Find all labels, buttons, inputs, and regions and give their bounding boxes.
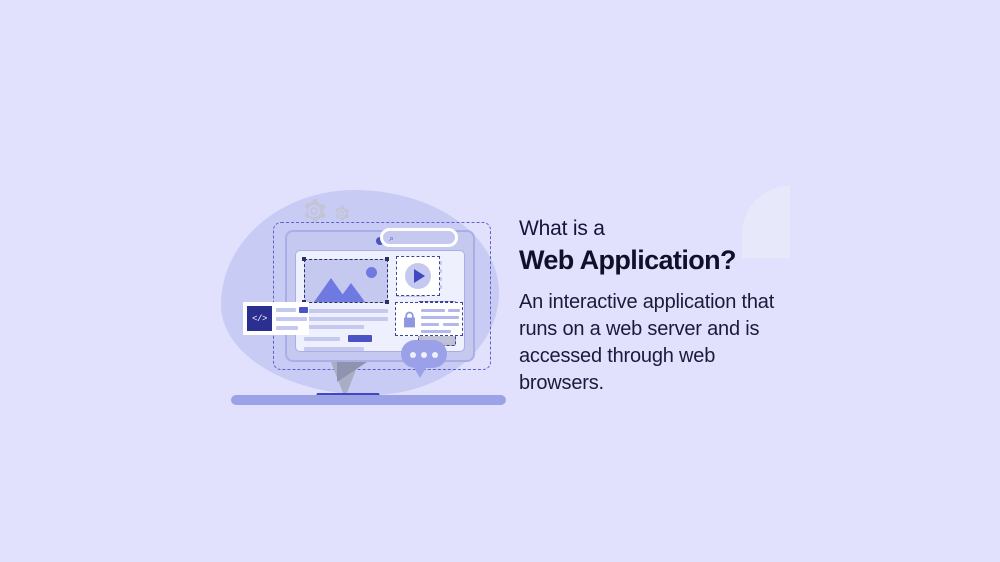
resize-handle[interactable] xyxy=(302,257,306,261)
text-column: What is a Web Application? An interactiv… xyxy=(519,216,819,397)
text-line xyxy=(304,347,364,351)
text-line xyxy=(304,317,388,321)
text-line xyxy=(421,309,445,312)
chat-bubble-tail xyxy=(413,366,427,378)
floor-bar xyxy=(231,395,506,405)
text-line xyxy=(421,330,451,333)
page-title: Web Application? xyxy=(519,244,819,276)
chat-bubble xyxy=(401,340,447,368)
video-play-card[interactable] xyxy=(396,256,440,296)
text-line xyxy=(421,323,439,326)
gear-icon xyxy=(301,198,327,224)
description-text: An interactive application that runs on … xyxy=(519,289,791,398)
text-line xyxy=(448,309,460,312)
web-application-illustration: ⌕ </> xyxy=(215,180,515,410)
accent-chip xyxy=(299,307,308,313)
monitor-stand-shadow xyxy=(337,362,367,382)
mountain-shape xyxy=(337,283,365,302)
search-icon: ⌕ xyxy=(389,234,394,243)
accent-chip xyxy=(348,335,372,342)
text-line xyxy=(304,337,340,341)
resize-handle[interactable] xyxy=(385,257,389,261)
text-line xyxy=(421,316,459,319)
text-line xyxy=(304,325,364,329)
slide-canvas: ⌕ </> xyxy=(0,0,1000,562)
play-icon xyxy=(414,269,425,283)
text-line xyxy=(276,308,296,312)
security-lock-card xyxy=(395,302,463,336)
text-line xyxy=(276,317,307,321)
eyebrow-text: What is a xyxy=(519,216,819,242)
resize-handle[interactable] xyxy=(385,300,389,304)
image-placeholder xyxy=(304,259,388,303)
code-icon: </> xyxy=(247,306,272,331)
text-line xyxy=(443,323,459,326)
search-input[interactable]: ⌕ xyxy=(380,228,458,247)
gear-small-icon xyxy=(333,205,350,222)
lock-icon xyxy=(402,311,417,328)
typing-dot xyxy=(410,352,416,358)
desktop-monitor xyxy=(285,230,475,362)
code-snippet-card: </> xyxy=(243,302,309,335)
text-line xyxy=(304,309,388,313)
typing-dot xyxy=(421,352,427,358)
sun-shape xyxy=(366,267,377,278)
text-line xyxy=(276,326,298,330)
typing-dot xyxy=(432,352,438,358)
